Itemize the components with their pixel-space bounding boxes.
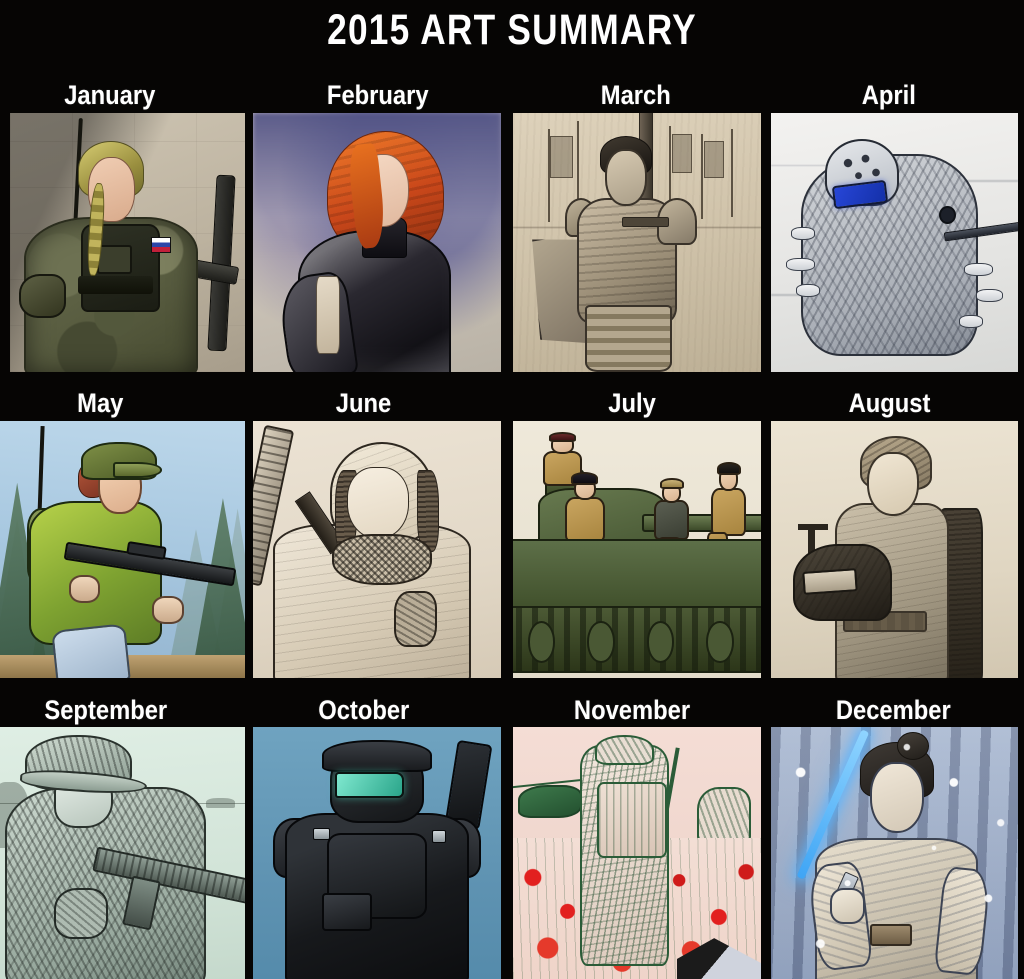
artwork-cell-november[interactable] <box>513 727 761 979</box>
june-glove <box>394 591 436 648</box>
artwork-june <box>253 421 501 678</box>
page-title: 2015 ART SUMMARY <box>92 8 932 53</box>
artwork-april <box>771 113 1018 372</box>
november-helmet <box>595 735 655 765</box>
july-road-wheel-1 <box>528 621 555 662</box>
month-label-march: March <box>601 80 671 111</box>
july-crew-4-hair <box>717 462 741 475</box>
november-second-soldier <box>697 787 752 842</box>
month-label-september: September <box>44 695 167 726</box>
april-ghillie-strand-6 <box>959 315 984 328</box>
month-label-february: February <box>327 80 429 111</box>
september-scrub-2 <box>206 798 235 808</box>
june-shemagh-scarf <box>332 534 431 585</box>
august-face <box>867 452 919 516</box>
artwork-february <box>253 113 501 372</box>
artwork-november <box>513 727 761 979</box>
april-ghillie-strand-2 <box>786 258 816 271</box>
october-shoulder-light <box>313 828 330 841</box>
month-label-row-2: May June July August <box>0 388 1024 422</box>
artwork-september <box>0 727 245 979</box>
january-russian-flag-patch <box>151 237 171 253</box>
month-label-july: July <box>608 388 656 419</box>
artwork-cell-june[interactable] <box>253 421 501 678</box>
artwork-july <box>513 421 761 678</box>
october-shoulder-marker <box>432 830 447 843</box>
month-label-june: June <box>336 388 391 419</box>
january-belt <box>78 276 153 294</box>
july-crew-3-torso <box>654 500 689 540</box>
march-banner-cloth-1 <box>550 136 572 177</box>
may-helmet-brim <box>113 462 162 477</box>
artwork-cell-october[interactable] <box>253 727 501 979</box>
march-fauld-skirt <box>585 305 672 372</box>
artwork-march <box>513 113 761 372</box>
artwork-may <box>0 421 245 678</box>
artwork-january <box>10 113 245 372</box>
july-crew-2-hair <box>571 472 598 484</box>
april-ghillie-strand-3 <box>796 284 821 297</box>
october-helmet-crown <box>322 740 431 773</box>
june-face <box>347 467 409 539</box>
month-label-april: April <box>862 80 916 111</box>
february-bracer <box>316 276 340 354</box>
artwork-cell-january[interactable] <box>10 113 245 372</box>
september-gloved-hand <box>54 888 108 938</box>
artwork-cell-february[interactable] <box>253 113 501 372</box>
november-rucksack <box>597 782 666 858</box>
november-helicopter <box>518 785 582 818</box>
art-summary-page: 2015 ART SUMMARY January February March … <box>0 0 1024 979</box>
may-left-hand <box>69 575 101 603</box>
month-label-january: January <box>64 80 155 111</box>
july-road-wheel-3 <box>647 621 674 662</box>
april-ghillie-strand-1 <box>791 227 816 240</box>
month-label-row-3: September October November December <box>0 695 1024 729</box>
august-helmet-visor <box>802 568 858 595</box>
artwork-october <box>253 727 501 979</box>
january-vest-pouch <box>97 245 132 273</box>
artwork-cell-august[interactable] <box>771 421 1018 678</box>
july-road-wheel-2 <box>587 621 614 662</box>
artwork-cell-july[interactable] <box>513 421 761 678</box>
march-banner-cloth-3 <box>704 141 724 177</box>
may-green-poncho <box>29 501 161 645</box>
may-right-hand <box>152 596 184 624</box>
artwork-december <box>771 727 1018 979</box>
artwork-cell-march[interactable] <box>513 113 761 372</box>
month-label-december: December <box>836 695 951 726</box>
january-gloved-hands <box>19 274 66 318</box>
artwork-cell-may[interactable] <box>0 421 245 678</box>
july-crew-4-torso <box>711 488 746 536</box>
month-label-may: May <box>77 388 123 419</box>
artwork-cell-september[interactable] <box>0 727 245 979</box>
october-utility-pouch <box>322 893 372 931</box>
month-label-october: October <box>318 695 409 726</box>
may-trousers <box>51 623 130 678</box>
july-crew-1-beret <box>549 432 576 441</box>
artwork-cell-april[interactable] <box>771 113 1018 372</box>
month-label-november: November <box>574 695 690 726</box>
october-teal-visor <box>335 772 404 797</box>
april-ghillie-strand-5 <box>976 289 1003 302</box>
april-ghillie-strand-4 <box>964 263 994 276</box>
july-road-wheel-4 <box>706 621 733 662</box>
march-face <box>605 149 647 206</box>
july-crew-3-hair <box>660 478 684 489</box>
july-crew-2-torso <box>565 497 605 542</box>
march-banner-pole-5 <box>731 129 733 217</box>
artwork-august <box>771 421 1018 678</box>
december-falling-snow <box>771 727 1018 979</box>
march-sword-crossguard <box>622 217 669 227</box>
march-banner-cloth-2 <box>672 134 692 173</box>
artwork-cell-december[interactable] <box>771 727 1018 979</box>
month-label-row-1: January February March April <box>0 80 1024 114</box>
month-label-august: August <box>849 388 931 419</box>
